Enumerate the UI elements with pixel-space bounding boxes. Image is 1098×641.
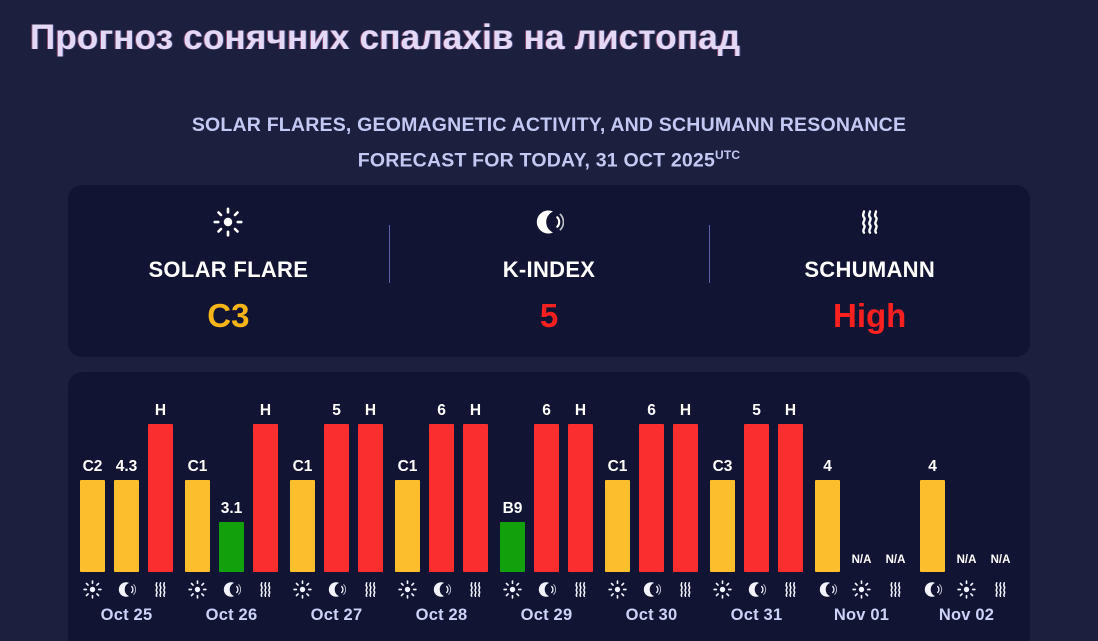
magnet-icon: [324, 580, 349, 599]
bar-k-index[interactable]: [114, 480, 139, 572]
forecast-chart-card: HC24.3HOct 25C13.1HOct 26C15HOct 27C16HO…: [68, 372, 1030, 641]
bar-column[interactable]: N/A: [988, 372, 1013, 572]
sun-icon: [80, 580, 105, 599]
magnet-icon: [744, 580, 769, 599]
bar-column[interactable]: 4: [920, 372, 945, 572]
bar-column[interactable]: 6: [429, 372, 454, 572]
bar-value-label: 5: [752, 403, 761, 419]
waves-icon: [855, 205, 885, 239]
bar-value-label: 4: [928, 459, 937, 475]
utc-superscript: UTC: [715, 148, 740, 162]
icons-row: [284, 572, 389, 606]
bar-value-label: 6: [542, 403, 551, 419]
bar-schumann[interactable]: [358, 424, 383, 572]
bar-value-label: H: [680, 403, 691, 419]
bar-value-label: H: [785, 403, 796, 419]
day-group: C15HOct 27: [284, 372, 389, 641]
bar-k-index[interactable]: [219, 522, 244, 572]
bar-value-label: 3.1: [221, 501, 243, 517]
magnet-icon: [920, 580, 945, 599]
bar-k-index[interactable]: [815, 480, 840, 572]
bar-value-label: 4: [823, 459, 832, 475]
sun-icon: [710, 580, 735, 599]
bar-value-label: H: [470, 403, 481, 419]
bar-solar-flare[interactable]: [500, 522, 525, 572]
bars-row: B96H: [494, 372, 599, 572]
bar-column[interactable]: H: [148, 372, 173, 572]
bar-column[interactable]: H: [253, 372, 278, 572]
date-label: Oct 29: [521, 606, 573, 625]
bar-schumann[interactable]: [778, 424, 803, 572]
bars-row: C24.3H: [74, 372, 179, 572]
bar-k-index[interactable]: [534, 424, 559, 572]
bar-value-label: C1: [608, 459, 628, 475]
summary-label: SOLAR FLARE: [148, 257, 308, 283]
date-label: Nov 01: [834, 606, 889, 625]
bar-value-label: N/A: [957, 555, 977, 567]
bar-schumann[interactable]: [463, 424, 488, 572]
bar-value-label: B9: [503, 501, 523, 517]
bars-row: C35H: [704, 372, 809, 572]
bar-solar-flare[interactable]: [605, 480, 630, 572]
day-group: C16HOct 30: [599, 372, 704, 641]
waves-icon: [673, 580, 698, 599]
waves-icon: [778, 580, 803, 599]
bar-column[interactable]: H: [778, 372, 803, 572]
bar-column[interactable]: 6: [639, 372, 664, 572]
bar-k-index[interactable]: [429, 424, 454, 572]
magnet-icon: [219, 580, 244, 599]
bar-solar-flare[interactable]: [710, 480, 735, 572]
summary-column-schumann: SCHUMANNHigh: [709, 185, 1030, 357]
bars-row: C13.1H: [179, 372, 284, 572]
summary-column-k-index: K-INDEX5: [389, 185, 710, 357]
bar-column[interactable]: C1: [290, 372, 315, 572]
bars-row: C16H: [599, 372, 704, 572]
date-row: Oct 31: [704, 606, 809, 641]
date-row: Oct 27: [284, 606, 389, 641]
waves-icon: [883, 580, 908, 599]
bar-value-label: 6: [437, 403, 446, 419]
date-row: Oct 28: [389, 606, 494, 641]
bar-value-label: C2: [83, 459, 103, 475]
date-label: Oct 25: [101, 606, 153, 625]
day-group: 4N/AN/ANov 01: [809, 372, 914, 641]
bar-value-label: N/A: [852, 555, 872, 567]
sun-icon: [605, 580, 630, 599]
bars-row: 4N/AN/A: [809, 372, 914, 572]
date-row: Oct 26: [179, 606, 284, 641]
page-title: Прогноз сонячних спалахів на листопад: [30, 18, 740, 58]
day-group: C16HOct 28: [389, 372, 494, 641]
bar-schumann[interactable]: [568, 424, 593, 572]
magnet-icon: [815, 580, 840, 599]
bar-column[interactable]: H: [673, 372, 698, 572]
date-label: Oct 30: [626, 606, 678, 625]
summary-column-solar-flare: SOLAR FLAREC3: [68, 185, 389, 357]
date-label: Oct 28: [416, 606, 468, 625]
bar-solar-flare[interactable]: [80, 480, 105, 572]
bar-column[interactable]: H: [463, 372, 488, 572]
date-label: Oct 31: [731, 606, 783, 625]
forecast-subtitle: SOLAR FLARES, GEOMAGNETIC ACTIVITY, AND …: [0, 110, 1098, 176]
magnet-icon: [429, 580, 454, 599]
bar-value-label: N/A: [991, 555, 1011, 567]
subtitle-line-1: SOLAR FLARES, GEOMAGNETIC ACTIVITY, AND …: [192, 114, 906, 136]
bar-column[interactable]: C2: [80, 372, 105, 572]
bar-schumann[interactable]: [253, 424, 278, 572]
sun-icon: [395, 580, 420, 599]
date-label: Oct 27: [311, 606, 363, 625]
magnet-icon: [114, 580, 139, 599]
icons-row: [809, 572, 914, 606]
icons-row: [914, 572, 1019, 606]
waves-icon: [988, 580, 1013, 599]
summary-card: SOLAR FLAREC3K-INDEX5SCHUMANNHigh: [68, 185, 1030, 357]
summary-label: K-INDEX: [503, 257, 596, 283]
sun-icon: [954, 580, 979, 599]
bar-column[interactable]: 3.1: [219, 372, 244, 572]
icons-row: [704, 572, 809, 606]
sun-icon: [500, 580, 525, 599]
date-row: Oct 30: [599, 606, 704, 641]
icons-row: [179, 572, 284, 606]
summary-value: High: [833, 299, 906, 332]
bar-value-label: C3: [713, 459, 733, 475]
day-group: B96HOct 29: [494, 372, 599, 641]
bar-column[interactable]: C1: [605, 372, 630, 572]
bar-value-label: 5: [332, 403, 341, 419]
waves-icon: [253, 580, 278, 599]
bar-value-label: N/A: [886, 555, 906, 567]
subtitle-line-2: FORECAST FOR TODAY, 31 OCT 2025: [358, 150, 715, 172]
bar-column[interactable]: H: [358, 372, 383, 572]
bar-solar-flare[interactable]: [185, 480, 210, 572]
magnet-icon: [534, 580, 559, 599]
bar-column[interactable]: 4.3: [114, 372, 139, 572]
waves-icon: [568, 580, 593, 599]
bars-row: C15H: [284, 372, 389, 572]
magnet-icon: [639, 580, 664, 599]
icons-row: [599, 572, 704, 606]
bar-column[interactable]: 5: [324, 372, 349, 572]
bar-k-index[interactable]: [920, 480, 945, 572]
date-label: Nov 02: [939, 606, 994, 625]
bar-column[interactable]: 4: [815, 372, 840, 572]
bar-value-label: C1: [188, 459, 208, 475]
bar-solar-flare[interactable]: [290, 480, 315, 572]
bar-column[interactable]: N/A: [883, 372, 908, 572]
bars-row: C16H: [389, 372, 494, 572]
bars-row: 4N/AN/A: [914, 372, 1019, 572]
bar-k-index[interactable]: [744, 424, 769, 572]
bar-value-label: H: [155, 403, 166, 419]
bar-k-index[interactable]: [639, 424, 664, 572]
waves-icon: [148, 580, 173, 599]
bar-value-label: H: [260, 403, 271, 419]
bar-value-label: H: [365, 403, 376, 419]
date-row: Nov 02: [914, 606, 1019, 641]
bar-column[interactable]: H: [568, 372, 593, 572]
sun-icon: [290, 580, 315, 599]
date-row: Nov 01: [809, 606, 914, 641]
sun-icon: [185, 580, 210, 599]
waves-icon: [463, 580, 488, 599]
bar-column[interactable]: C3: [710, 372, 735, 572]
bar-k-index[interactable]: [324, 424, 349, 572]
bar-value-label: 6: [647, 403, 656, 419]
date-row: Oct 29: [494, 606, 599, 641]
bar-column[interactable]: B9: [500, 372, 525, 572]
bar-column[interactable]: N/A: [954, 372, 979, 572]
icons-row: [494, 572, 599, 606]
bar-solar-flare[interactable]: [395, 480, 420, 572]
bar-value-label: C1: [293, 459, 313, 475]
bar-column[interactable]: C1: [185, 372, 210, 572]
bar-value-label: H: [575, 403, 586, 419]
sun-icon: [849, 580, 874, 599]
bar-schumann[interactable]: [148, 424, 173, 572]
day-group: C24.3HOct 25: [74, 372, 179, 641]
bar-schumann[interactable]: [673, 424, 698, 572]
summary-value: C3: [207, 299, 249, 332]
bar-column[interactable]: N/A: [849, 372, 874, 572]
sun-icon: [213, 205, 243, 239]
bar-column[interactable]: 5: [744, 372, 769, 572]
chart-track[interactable]: HC24.3HOct 25C13.1HOct 26C15HOct 27C16HO…: [68, 372, 1019, 641]
waves-icon: [358, 580, 383, 599]
bar-column[interactable]: C1: [395, 372, 420, 572]
day-group: C35HOct 31: [704, 372, 809, 641]
icons-row: [389, 572, 494, 606]
day-group: C13.1HOct 26: [179, 372, 284, 641]
bar-value-label: C1: [398, 459, 418, 475]
summary-label: SCHUMANN: [804, 257, 935, 283]
chart-viewport[interactable]: HC24.3HOct 25C13.1HOct 26C15HOct 27C16HO…: [68, 372, 1030, 641]
bar-column[interactable]: 6: [534, 372, 559, 572]
date-row: Oct 25: [74, 606, 179, 641]
date-label: Oct 26: [206, 606, 258, 625]
day-group: 4N/AN/ANov 02: [914, 372, 1019, 641]
summary-value: 5: [540, 299, 558, 332]
icons-row: [74, 572, 179, 606]
magnet-icon: [534, 205, 564, 239]
bar-value-label: 4.3: [116, 459, 138, 475]
page-root: Прогноз сонячних спалахів на листопад SO…: [0, 0, 1098, 641]
